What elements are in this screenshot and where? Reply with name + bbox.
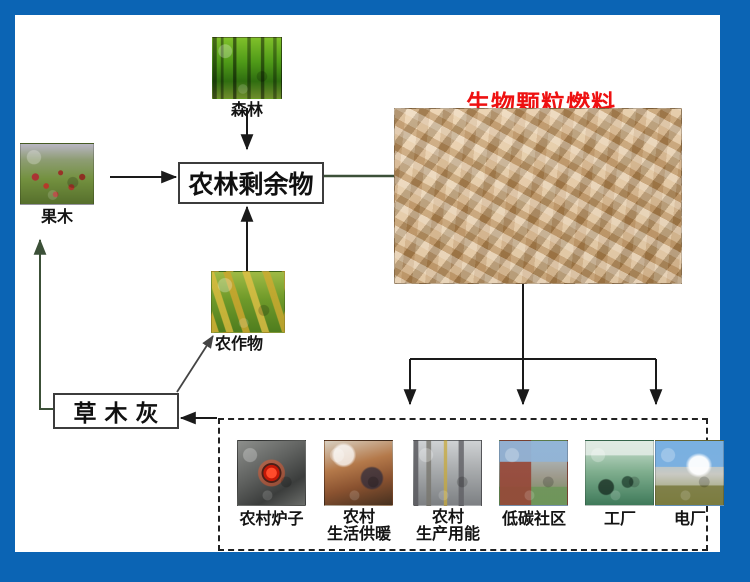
- caption-power-plant: 电厂: [642, 510, 738, 527]
- forest-photo: [212, 37, 282, 99]
- caption-crop: 农作物: [207, 335, 297, 352]
- ash-node-label: 草 木 灰: [73, 394, 158, 428]
- residue-node-label: 农林剩余物: [188, 165, 313, 201]
- caption-fruit-tree: 果木: [12, 208, 102, 225]
- low-carbon-community-photo: [499, 440, 568, 506]
- crop-photo: [211, 271, 285, 333]
- factory-photo: [585, 440, 654, 506]
- arrow-ash-to-fruit: [40, 240, 53, 409]
- arrow-product-to-applications: [410, 284, 656, 404]
- residue-node-box[interactable]: 农林剩余物: [178, 162, 324, 204]
- caption-low-carbon-community: 低碳社区: [486, 510, 582, 527]
- rural-stove-photo: [237, 440, 306, 506]
- caption-forest: 森林: [202, 101, 292, 118]
- diagram-canvas: 森林 果木 农作物 农林剩余物 草 木 灰 生物颗粒燃料 农村炉子 农: [15, 15, 720, 552]
- wood-pellets-photo: [394, 108, 682, 284]
- caption-rural-stove: 农村炉子: [222, 510, 321, 527]
- ash-node-box[interactable]: 草 木 灰: [53, 393, 179, 429]
- fruit-tree-photo: [20, 143, 94, 205]
- caption-rural-heating: 农村 生活供暖: [311, 508, 407, 543]
- rural-production-photo: [413, 440, 482, 506]
- diagram-stage: 森林 果木 农作物 农林剩余物 草 木 灰 生物颗粒燃料 农村炉子 农: [0, 0, 750, 582]
- power-plant-photo: [655, 440, 724, 506]
- caption-rural-production: 农村 生产用能: [400, 508, 496, 543]
- rural-heating-photo: [324, 440, 393, 506]
